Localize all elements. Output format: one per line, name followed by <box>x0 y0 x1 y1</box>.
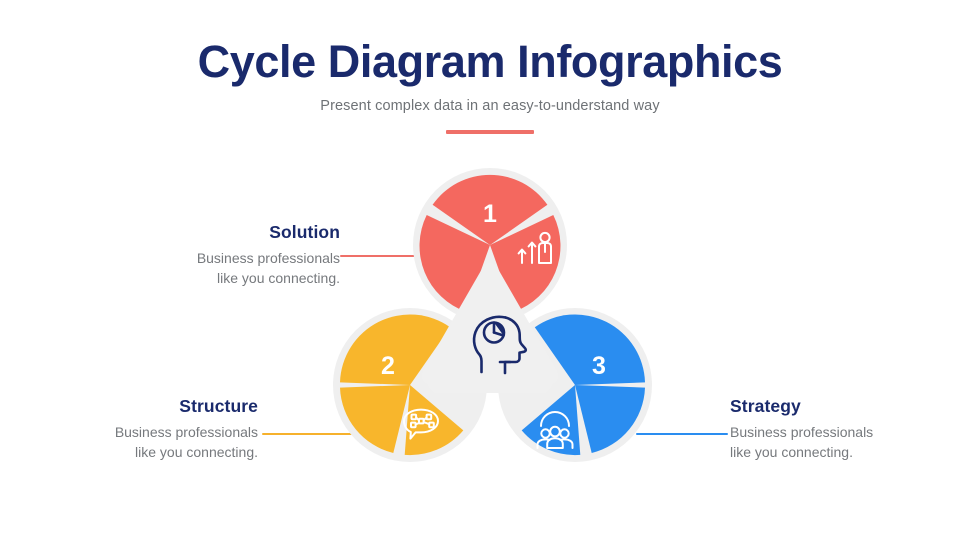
callout-title-strategy: Strategy <box>730 396 930 417</box>
wedge-strategy-left[interactable] <box>522 385 581 455</box>
callout-body-strategy: Business professionals like you connecti… <box>730 422 930 462</box>
segment-group-structure[interactable]: 2 <box>340 314 463 455</box>
wedge-structure-left[interactable] <box>340 385 410 453</box>
header: Cycle Diagram Infographics Present compl… <box>0 38 980 134</box>
callout-structure: Structure Business professionals like yo… <box>78 396 258 462</box>
page-title: Cycle Diagram Infographics <box>0 38 980 87</box>
title-underline-rule <box>446 130 534 134</box>
circle-halos <box>333 168 652 462</box>
speech-bubble-network-icon <box>404 410 438 439</box>
center-overlap-area <box>422 263 558 393</box>
center-triangle-rounded <box>422 263 558 384</box>
callout-strategy: Strategy Business professionals like you… <box>730 396 930 462</box>
wedge-solution-top[interactable] <box>433 175 548 245</box>
callout-solution: Solution Business professionals like you… <box>150 222 340 288</box>
head-pie-chart-icon <box>474 317 526 373</box>
wedge-solution-right[interactable] <box>490 215 560 312</box>
center-triangle <box>427 270 553 393</box>
wedge-structure-right[interactable] <box>405 385 464 455</box>
connector-line-strategy <box>636 433 728 435</box>
wedge-structure-top[interactable] <box>340 314 450 385</box>
person-growth-arrows-icon <box>519 233 551 263</box>
segment-group-solution[interactable]: 1 <box>420 175 561 312</box>
callout-title-structure: Structure <box>78 396 258 417</box>
callout-body-solution: Business professionals like you connecti… <box>150 248 340 288</box>
slide-canvas: Cycle Diagram Infographics Present compl… <box>0 0 980 551</box>
segment-number-2: 2 <box>381 352 395 380</box>
page-subtitle: Present complex data in an easy-to-under… <box>0 98 980 114</box>
wedge-solution-left[interactable] <box>420 215 490 312</box>
wedge-strategy-top-blue[interactable] <box>535 314 645 385</box>
connector-line-solution <box>340 255 432 257</box>
halo-yellow <box>333 308 487 462</box>
segment-number-3: 3 <box>592 352 606 380</box>
callout-body-structure: Business professionals like you connecti… <box>78 422 258 462</box>
halo-blue <box>498 308 652 462</box>
connector-line-structure <box>262 433 354 435</box>
halo-red <box>413 168 567 322</box>
people-group-icon <box>538 412 573 448</box>
callout-title-solution: Solution <box>150 222 340 243</box>
segment-number-1: 1 <box>483 200 497 228</box>
wedge-strategy-right[interactable] <box>575 385 645 453</box>
